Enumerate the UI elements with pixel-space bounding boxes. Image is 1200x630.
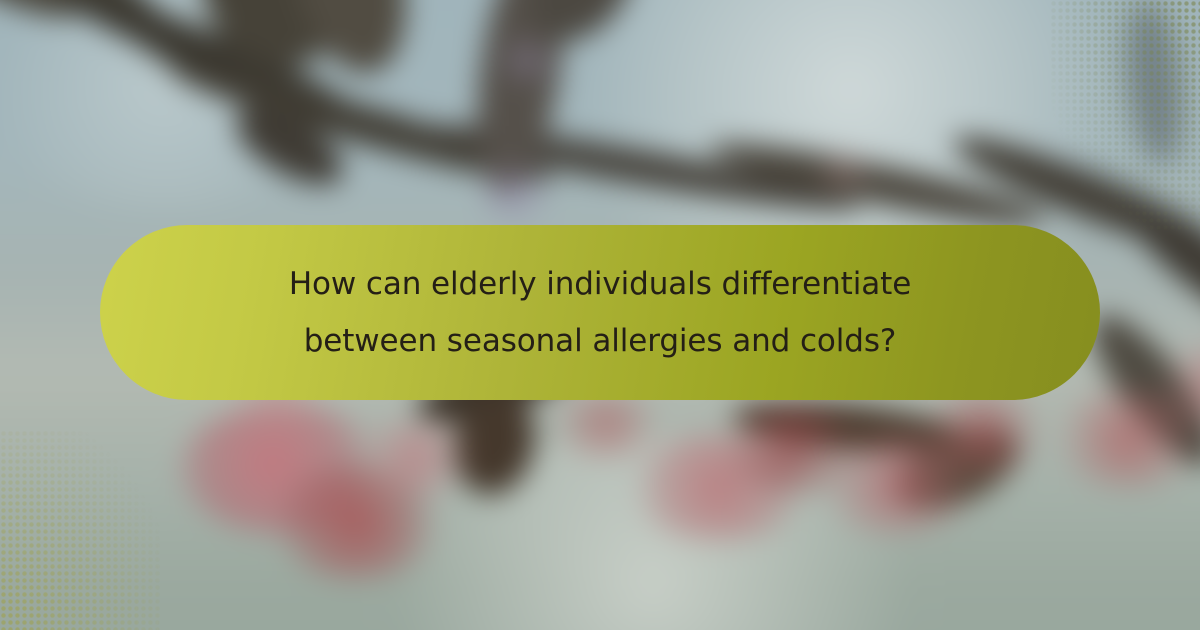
blossom-cluster xyxy=(917,390,1049,473)
question-pill: How can elderly individuals differentiat… xyxy=(100,225,1100,400)
blossom-cluster xyxy=(494,38,560,83)
blossom-cluster xyxy=(349,420,481,495)
question-text: How can elderly individuals differentiat… xyxy=(240,256,960,369)
halftone-pattern-top-right xyxy=(1050,0,1200,230)
blossom-cluster xyxy=(468,165,560,225)
halftone-pattern-bottom-left xyxy=(0,430,160,630)
question-card: How can elderly individuals differentiat… xyxy=(0,0,1200,630)
blossom-cluster xyxy=(811,150,877,195)
blossom-cluster xyxy=(547,390,666,458)
